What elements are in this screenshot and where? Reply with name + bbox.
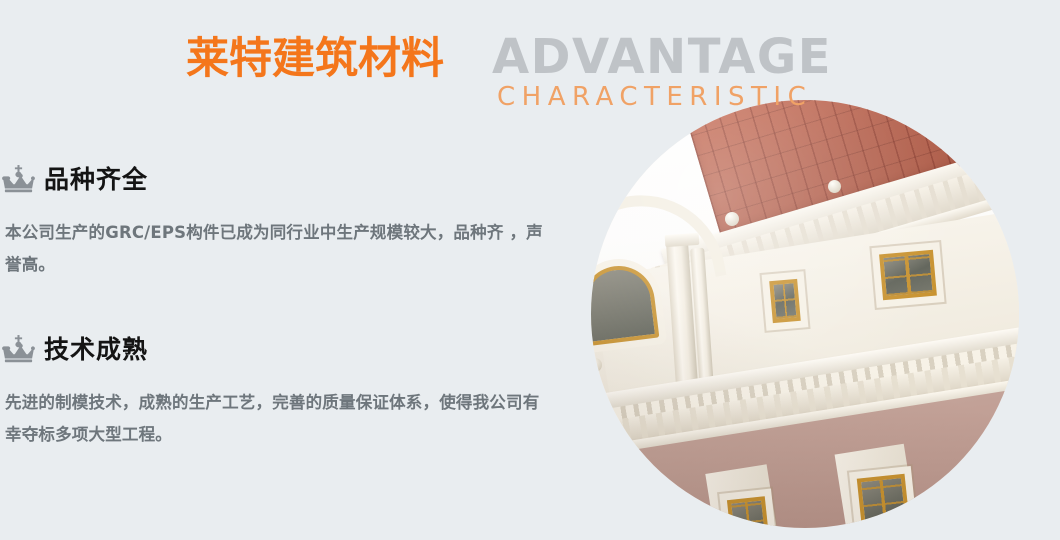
feature-1-title: 品种齐全 — [44, 167, 148, 192]
finial-ball-1 — [725, 212, 739, 226]
building-photo — [591, 100, 1019, 528]
subtitle-english: CHARACTERISTIC — [497, 84, 812, 110]
feature-2-title: 技术成熟 — [44, 337, 148, 362]
title-english: ADVANTAGE — [492, 33, 832, 81]
advantage-banner: ADVANTAGE CHARACTERISTIC 莱特建筑材料 品种齐全 本公司… — [0, 0, 1060, 540]
feature-2-header: 技术成熟 — [0, 330, 560, 368]
window-lower-right — [857, 474, 914, 528]
column-left-capital — [665, 233, 700, 247]
window-upper-middle — [769, 279, 801, 323]
feature-2-body: 先进的制模技术，成熟的生产工艺，完善的质量保证体系，使得我公司有幸夺标多项大型工… — [0, 387, 555, 451]
feature-block-2: 技术成熟 先进的制模技术，成熟的生产工艺，完善的质量保证体系，使得我公司有幸夺标… — [0, 330, 560, 451]
crown-icon — [2, 335, 35, 364]
title-chinese: 莱特建筑材料 — [186, 38, 444, 81]
building-photo-image — [591, 100, 1019, 528]
crown-icon — [2, 165, 35, 194]
feature-1-body: 本公司生产的GRC/EPS构件已成为同行业中生产规模较大，品种齐 ，声誉高。 — [0, 217, 555, 281]
feature-block-1: 品种齐全 本公司生产的GRC/EPS构件已成为同行业中生产规模较大，品种齐 ，声… — [0, 160, 560, 281]
feature-1-header: 品种齐全 — [0, 160, 560, 198]
window-upper-right — [879, 250, 937, 301]
finial-ball-2 — [828, 180, 841, 193]
